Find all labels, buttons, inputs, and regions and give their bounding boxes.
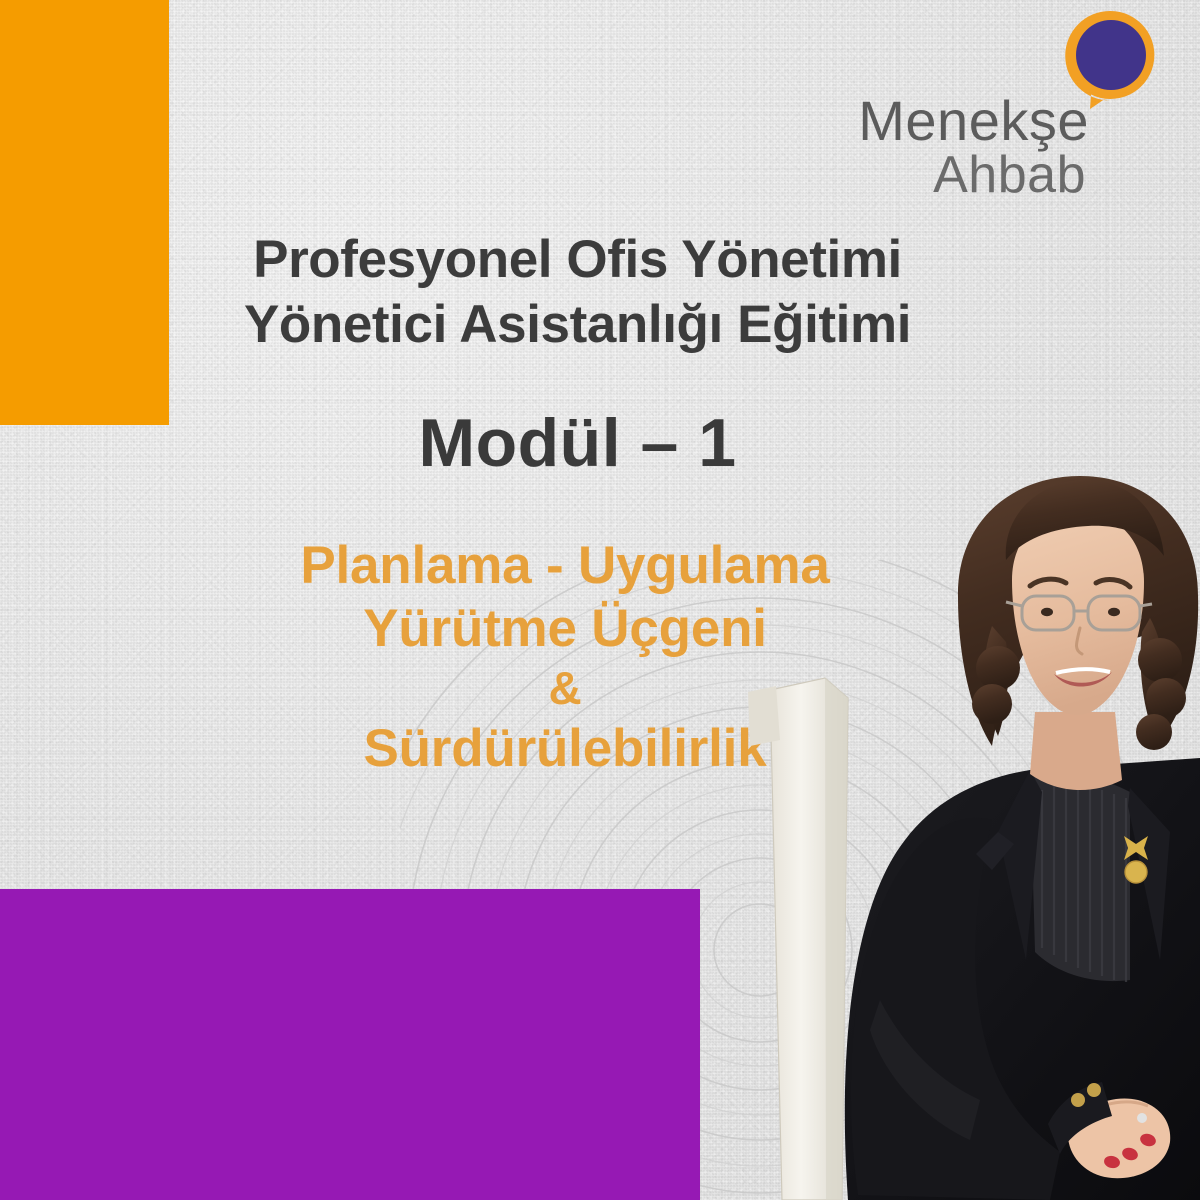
module-label: Modül – 1: [0, 404, 1155, 482]
orange-accent-block: [0, 0, 169, 425]
brand-name: Menekşe: [858, 92, 1089, 149]
subject-line-4: Sürdürülebilirlik: [0, 718, 1130, 781]
subject-ampersand: &: [0, 660, 1130, 718]
poster-canvas: Menekşe Ahbab Profesyonel Ofis Yönetimi …: [0, 0, 1200, 1200]
page-title-line-1: Profesyonel Ofis Yönetimi: [253, 230, 902, 289]
subject-line-1: Planlama - Uygulama: [0, 535, 1130, 598]
brand-subname: Ahbab: [933, 149, 1086, 202]
page-title-line-2: Yönetici Asistanlığı Eğitimi: [0, 293, 1155, 358]
subject-block: Planlama - Uygulama Yürütme Üçgeni & Sür…: [0, 535, 1130, 780]
subject-line-2: Yürütme Üçgeni: [0, 598, 1130, 661]
page-title: Profesyonel Ofis Yönetimi Yönetici Asist…: [0, 228, 1155, 357]
purple-accent-block: [0, 889, 700, 1200]
